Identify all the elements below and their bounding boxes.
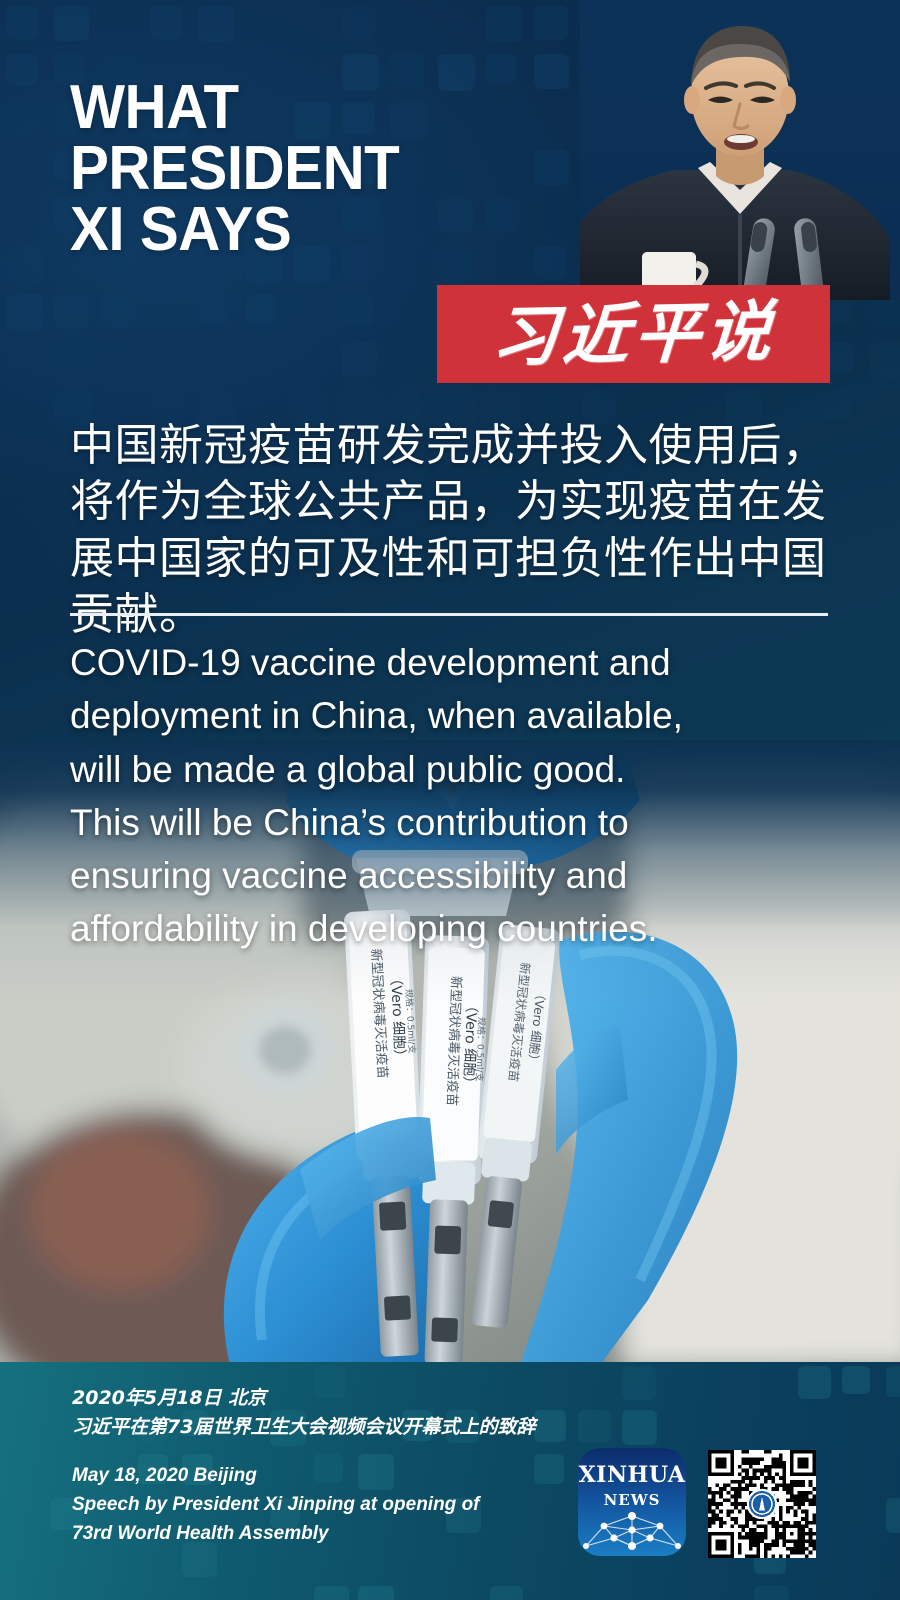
quote-english-line-3: will be made a global public good. xyxy=(70,743,850,796)
photo-president-xi xyxy=(580,0,900,300)
quote-chinese: 中国新冠疫苗研发完成并投入使用后，将作为全球公共产品，为实现疫苗在发展中国家的可… xyxy=(70,418,830,643)
caption-en-event-line-2: 73rd World Health Assembly xyxy=(72,1520,535,1549)
qr-code-graphic xyxy=(708,1450,816,1558)
poster-root: WHAT PRESIDENT XI SAYS 习近平说 中国新冠疫苗研发完成并投… xyxy=(0,0,900,1600)
headline-line-1: WHAT xyxy=(70,78,399,139)
quote-english-line-5: ensuring vaccine accessibility and xyxy=(70,849,850,902)
quote-english: COVID-19 vaccine development and deploym… xyxy=(70,636,850,956)
caption-en-date: May 18, 2020 Beijing xyxy=(72,1462,535,1491)
headline-line-3: XI SAYS xyxy=(70,200,399,261)
quote-english-line-1: COVID-19 vaccine development and xyxy=(70,636,850,689)
red-badge-calligraphy: 习近平说 xyxy=(489,298,778,370)
logo-name-main: XINHUA xyxy=(578,1462,686,1488)
caption-cn-date: 2020年5月18日 北京 xyxy=(72,1384,535,1413)
headline-line-2: PRESIDENT xyxy=(70,139,399,200)
headline: WHAT PRESIDENT XI SAYS xyxy=(70,78,399,260)
divider-line xyxy=(70,613,828,616)
president-xi-illustration xyxy=(580,0,900,300)
caption-block: 2020年5月18日 北京 习近平在第73届世界卫生大会视频会议开幕式上的致辞 … xyxy=(72,1384,535,1548)
quote-english-line-4: This will be China’s contribution to xyxy=(70,796,850,849)
xinhua-news-logo[interactable]: XINHUA NEWS xyxy=(578,1448,686,1556)
quote-english-line-6: affordability in developing countries. xyxy=(70,902,850,955)
red-badge: 习近平说 xyxy=(437,285,830,383)
logo-network-icon xyxy=(578,1502,686,1552)
caption-en-event-line-1: Speech by President Xi Jinping at openin… xyxy=(72,1491,535,1520)
quote-english-line-2: deployment in China, when available, xyxy=(70,689,850,742)
qr-code[interactable] xyxy=(708,1450,816,1558)
caption-cn-event: 习近平在第73届世界卫生大会视频会议开幕式上的致辞 xyxy=(72,1413,535,1442)
